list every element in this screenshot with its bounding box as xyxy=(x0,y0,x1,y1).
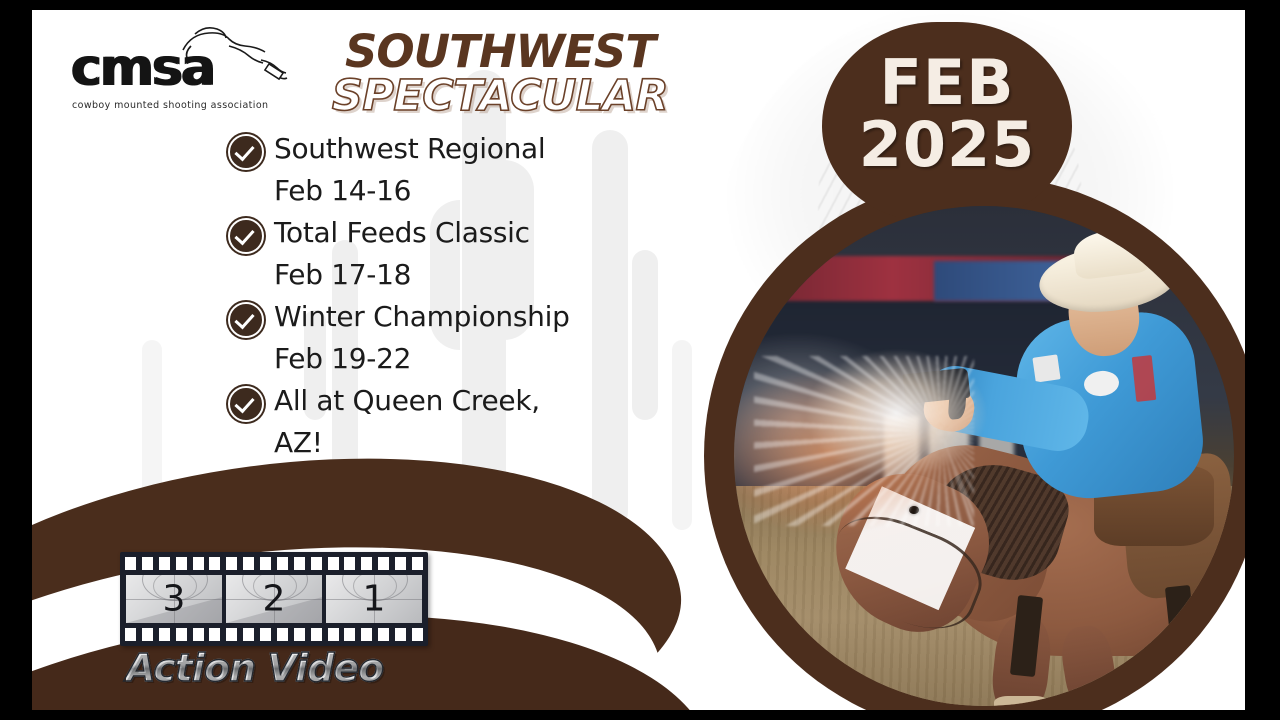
event-name: Winter Championship xyxy=(274,298,570,335)
check-icon xyxy=(228,302,264,338)
list-item: Total Feeds Classic xyxy=(228,214,698,254)
film-perforations-bottom xyxy=(125,628,423,641)
poster-canvas: cmsa cowboy mounted shooting association… xyxy=(32,10,1245,710)
cmsa-logo: cmsa cowboy mounted shooting association xyxy=(60,28,300,100)
countdown-frames: 3 2 1 xyxy=(126,575,422,623)
countdown-frame: 3 xyxy=(126,575,222,623)
date-badge: FEB 2025 xyxy=(822,22,1072,222)
event-location-state: AZ! xyxy=(274,424,323,461)
event-list: Southwest Regional Feb 14-16 Total Feeds… xyxy=(228,130,698,466)
cmsa-wordmark: cmsa xyxy=(70,42,213,94)
list-item: All at Queen Creek, xyxy=(228,382,698,422)
countdown-frame: 1 xyxy=(326,575,422,623)
sponsor-patch xyxy=(1032,354,1060,382)
check-icon xyxy=(228,134,264,170)
list-item-dates: Feb 19-22 xyxy=(228,340,698,380)
event-dates: Feb 19-22 xyxy=(274,340,411,377)
cactus-watermark xyxy=(142,340,162,520)
event-name: Southwest Regional xyxy=(274,130,545,167)
event-dates: Feb 17-18 xyxy=(274,256,411,293)
action-video-wordmark: Action Video xyxy=(126,648,440,688)
countdown-number: 3 xyxy=(126,579,222,620)
event-name: Total Feeds Classic xyxy=(274,214,530,251)
cmsa-logo-art: cmsa xyxy=(60,28,300,100)
list-item-dates: Feb 14-16 xyxy=(228,172,698,212)
check-icon xyxy=(228,386,264,422)
badge-month: FEB xyxy=(822,52,1072,114)
action-video-logo: 3 2 1 xyxy=(120,552,440,688)
horse-hoof xyxy=(994,696,1049,706)
letterbox-bottom xyxy=(0,710,1280,720)
event-location: All at Queen Creek, xyxy=(274,382,540,419)
countdown-number: 2 xyxy=(226,579,322,620)
event-dates: Feb 14-16 xyxy=(274,172,411,209)
letterbox-left xyxy=(0,0,32,720)
list-item: Winter Championship xyxy=(228,298,698,338)
list-item: Southwest Regional xyxy=(228,130,698,170)
letterbox-top xyxy=(0,0,1280,10)
film-strip-icon: 3 2 1 xyxy=(120,552,428,646)
badge-year: 2025 xyxy=(822,114,1072,176)
list-item-dates: AZ! xyxy=(228,424,698,464)
countdown-frame: 2 xyxy=(226,575,322,623)
title-line-spectacular: SPECTACULAR xyxy=(300,74,700,118)
countdown-number: 1 xyxy=(326,579,422,620)
list-item-dates: Feb 17-18 xyxy=(228,256,698,296)
film-perforations-top xyxy=(125,557,423,570)
video-frame: cmsa cowboy mounted shooting association… xyxy=(0,0,1280,720)
event-title: SOUTHWEST SPECTACULAR xyxy=(300,30,700,118)
shooter-photo xyxy=(734,206,1234,706)
letterbox-right xyxy=(1245,0,1280,720)
date-badge-text: FEB 2025 xyxy=(822,52,1072,176)
cmsa-tagline: cowboy mounted shooting association xyxy=(72,100,268,111)
title-line-southwest: SOUTHWEST xyxy=(300,30,700,74)
check-icon xyxy=(228,218,264,254)
muzzle-blast-rays xyxy=(754,356,974,526)
